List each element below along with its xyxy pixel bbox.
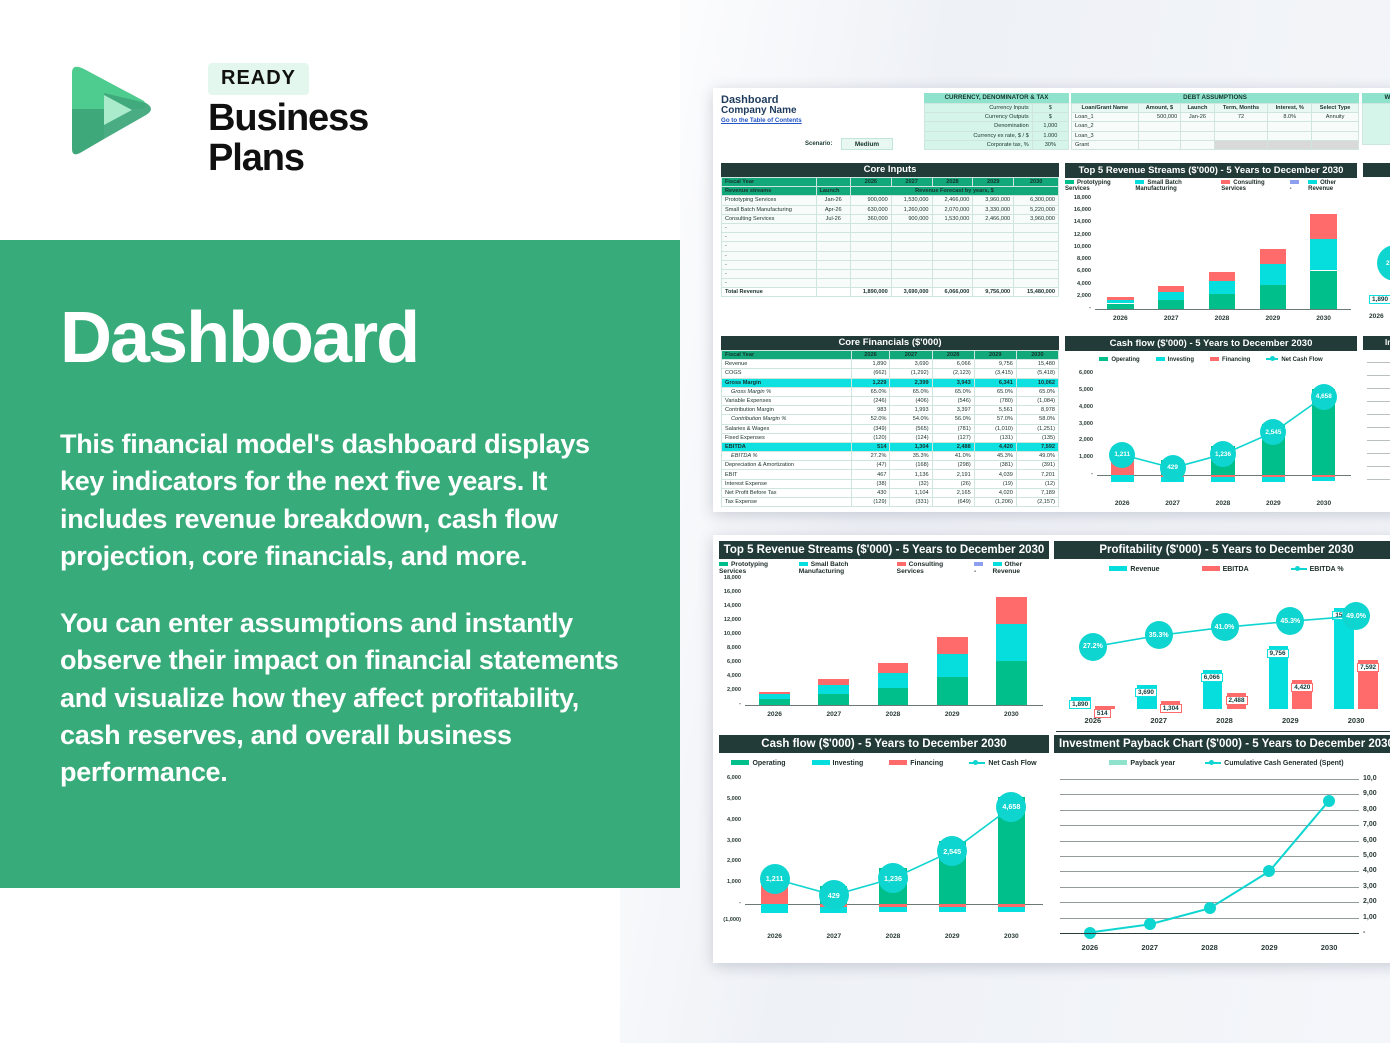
table-cell: (38): [851, 479, 890, 488]
table-cell: 58.0%: [1016, 415, 1058, 424]
table-cell: [816, 223, 850, 232]
legend-item: Operating: [731, 760, 785, 767]
donut-label-bubble: 27.2%: [1377, 245, 1390, 281]
data-bubble-pct: 49.0%: [1342, 602, 1370, 630]
table-row: Currency Outputs$: [925, 113, 1069, 122]
bar-segment: [1209, 281, 1235, 294]
table-cell: [850, 260, 891, 269]
table-cell: (47): [851, 461, 890, 470]
gridline: [1367, 453, 1390, 454]
currency-block-header: CURRENCY, DENOMINATOR & TAX: [924, 93, 1069, 103]
y-tick-label: 4,000: [719, 673, 741, 679]
table-cell: 1,890,000: [850, 288, 891, 297]
data-label: 1,890: [1369, 295, 1390, 304]
sheet-subtitle: Company Name: [721, 105, 802, 116]
table-cell: 1,530,000: [932, 214, 973, 223]
data-point-marker: [1323, 795, 1335, 807]
dashboard-screenshot-top: Dashboard Company Name Go to the Table o…: [713, 88, 1390, 512]
bar-segment: [878, 663, 909, 674]
table-cell: Tax Expense: [722, 498, 852, 507]
table-cell: [1214, 122, 1268, 131]
chart-legend: Payback year Cumulative Cash Generated (…: [1054, 757, 1390, 769]
table-cell: 2028: [932, 178, 973, 187]
data-bubble-pct: 41.0%: [1211, 613, 1239, 641]
chart-legend: Operating Investing Financing Net Cash F…: [719, 757, 1049, 769]
brand-logo: READY Business Plans: [58, 55, 458, 160]
table-cell: 2,466,000: [932, 196, 973, 205]
table-cell: 1,993: [890, 406, 932, 415]
table-cell: Interest Expense: [722, 479, 852, 488]
table-row: Currency ex rate, $ / $1.000: [925, 131, 1069, 140]
chart-investment-payback: Investment Payback Chart ($'000) - 5 Yea…: [1054, 735, 1390, 959]
table-row: Grant: [1072, 140, 1359, 149]
legend-item: Small Batch Manufacturing: [1135, 180, 1215, 192]
table-cell: 3,330,000: [973, 205, 1014, 214]
table-cell: 2029: [973, 178, 1014, 187]
table-cell: [891, 223, 932, 232]
x-tick-label: 2029: [930, 711, 974, 718]
table-cell: Jul-26: [816, 214, 850, 223]
table-cell: [1014, 279, 1059, 288]
table-cell: Contribution Margin: [722, 406, 852, 415]
table-cell: (129): [851, 498, 890, 507]
table-cell: Gross Margin: [722, 378, 852, 387]
bar-segment: [818, 694, 849, 705]
table-cell: 1,304: [890, 442, 932, 451]
data-point-marker: [1144, 918, 1156, 930]
table-cell: 2026: [850, 178, 891, 187]
x-tick-label: 2026: [753, 711, 797, 718]
table-cell: 27.2%: [851, 452, 890, 461]
table-row: -: [722, 279, 1059, 288]
table-cell: 3,960,000: [973, 196, 1014, 205]
table-header-row: Loan/Grant NameAmount, $LaunchTerm, Mont…: [1072, 104, 1359, 113]
table-cell: EBIT: [722, 470, 852, 479]
x-axis: [745, 705, 1043, 706]
table-cell: (349): [851, 424, 890, 433]
table-cell: [1214, 131, 1268, 140]
table-row: Prototyping ServicesJan-26900,0001,530,0…: [722, 196, 1059, 205]
table-header-row: Revenue streamsLaunchRevenue Forecast by…: [722, 187, 1059, 196]
table-cell: -: [722, 269, 817, 278]
table-cell: [973, 279, 1014, 288]
table-cell: (127): [932, 433, 974, 442]
table-header-row: Fiscal Year20262027202820292030: [722, 178, 1059, 187]
table-cell: Fiscal Year: [722, 178, 817, 187]
y-tick-label: 6,000: [1065, 268, 1091, 274]
chart-title: Cash flow ($'000) - 5 Years to December …: [719, 735, 1049, 753]
working-capital-body: ADe: [1362, 103, 1390, 145]
x-axis: [1056, 731, 1390, 732]
debt-block: DEBT ASSUMPTIONS Loan/Grant NameAmount, …: [1071, 93, 1359, 150]
table-cell: 2,488: [932, 442, 974, 451]
y-tick-label: 10,000: [719, 631, 741, 637]
table-cell: (12): [1016, 479, 1058, 488]
table-cell: [1138, 131, 1181, 140]
sheet-title-block: Dashboard Company Name Go to the Table o…: [721, 94, 802, 124]
table-cell: [850, 242, 891, 251]
table-row: Net Profit Before Tax4301,1042,1654,0207…: [722, 488, 1059, 497]
table-row: Contribution Margin9831,9933,3975,5618,9…: [722, 406, 1059, 415]
table-cell: Jan-26: [816, 196, 850, 205]
table-cell: (780): [974, 396, 1016, 405]
chart-partial-right-top: 27.2% 1,890 2026: [1363, 163, 1390, 331]
x-tick-label: 2030: [989, 711, 1033, 718]
chart-legend: Prototyping Services Small Batch Manufac…: [1065, 180, 1357, 192]
table-cell: 52.0%: [851, 415, 890, 424]
y-tick-label: 8,000: [719, 645, 741, 651]
bar-segment: [1260, 264, 1286, 284]
bar-segment: [1260, 249, 1286, 264]
table-cell: 2,165: [932, 488, 974, 497]
x-tick-label: 2030: [1302, 315, 1346, 322]
table-cell: Jan-26: [1181, 113, 1214, 122]
legend-item: Revenue: [1109, 566, 1159, 573]
table-cell: 49.0%: [1016, 452, 1058, 461]
table-cell: Gross Margin %: [722, 387, 852, 396]
bar-segment: [1107, 297, 1133, 299]
table-cell: Salaries & Wages: [722, 424, 852, 433]
table-row: EBIT4671,1362,1914,0397,201: [722, 470, 1059, 479]
table-cell: -: [722, 242, 817, 251]
bar-segment: [1158, 286, 1184, 292]
table-cell: (662): [851, 369, 890, 378]
table-cell: Annuity: [1312, 113, 1359, 122]
table-cell: [932, 242, 973, 251]
data-point-marker: [1204, 902, 1216, 914]
table-cell: Currency Outputs: [925, 113, 1033, 122]
table-row: Currency Inputs$: [925, 104, 1069, 113]
bar-segment: [1107, 304, 1133, 310]
x-tick-label: 2028: [871, 711, 915, 718]
table-row: Depreciation & Amortization(47)(168)(298…: [722, 461, 1059, 470]
bar-segment: [878, 688, 909, 705]
bar-segment: [937, 637, 968, 654]
x-tick-label: 2027: [812, 711, 856, 718]
bar-segment: [1107, 300, 1133, 304]
gridline: [1367, 427, 1390, 428]
table-cell: 3,960,000: [1014, 214, 1059, 223]
table-cell: 5,561: [974, 406, 1016, 415]
table-cell: (120): [851, 433, 890, 442]
legend-item: Financing: [1210, 357, 1250, 363]
data-bubble-pct: 35.3%: [1145, 621, 1173, 649]
debt-block-header: DEBT ASSUMPTIONS: [1071, 93, 1359, 103]
x-tick-label: 2026: [1098, 315, 1142, 322]
table-cell: Fixed Expenses: [722, 433, 852, 442]
table-cell: 2,399: [890, 378, 932, 387]
table-cell: 6,066,000: [932, 288, 973, 297]
table-cell: -: [722, 233, 817, 242]
table-cell: [816, 279, 850, 288]
table-cell: [891, 260, 932, 269]
table-cell: (32): [890, 479, 932, 488]
table-cell: 4,039: [974, 470, 1016, 479]
table-cell: (1,206): [974, 498, 1016, 507]
table-cell: EBITDA: [722, 442, 852, 451]
table-cell: Revenue: [722, 360, 852, 369]
table-row: Consulting ServicesJul-26360,000900,0001…: [722, 214, 1059, 223]
bar-segment: [1209, 294, 1235, 309]
table-cell: COGS: [722, 369, 852, 378]
table-cell: 5,220,000: [1014, 205, 1059, 214]
table-cell: (298): [932, 461, 974, 470]
table-cell: [932, 251, 973, 260]
table-cell: 45.3%: [974, 452, 1016, 461]
x-tick-label: 2026: [1369, 313, 1384, 320]
gridline: [1367, 479, 1390, 480]
y-tick-label: 12,000: [1065, 232, 1091, 238]
table-cell: [932, 233, 973, 242]
table-cell: [850, 251, 891, 260]
bar-segment: [937, 654, 968, 677]
cumulative-cash-line: [1054, 771, 1390, 959]
table-cell: Revenue streams: [722, 187, 817, 196]
table-cell: 360,000: [850, 214, 891, 223]
table-cell: 41.0%: [932, 452, 974, 461]
table-cell: Fiscal Year: [722, 351, 852, 360]
bar-segment: [1158, 292, 1184, 300]
table-cell: (168): [890, 461, 932, 470]
table-cell: -: [722, 260, 817, 269]
table-cell: Currency ex rate, $ / $: [925, 131, 1033, 140]
table-cell: EBITDA %: [722, 452, 852, 461]
table-cell: Small Batch Manufacturing: [722, 205, 817, 214]
bar-segment: [759, 694, 790, 698]
table-cell: (19): [974, 479, 1016, 488]
table-cell: [1268, 131, 1312, 140]
table-cell: [973, 269, 1014, 278]
legend-item: Investing: [812, 760, 864, 767]
table-cell: 7,201: [1016, 470, 1058, 479]
table-cell: [1268, 122, 1312, 131]
table-cell: 2,070,000: [932, 205, 973, 214]
table-cell: 630,000: [850, 205, 891, 214]
bar-segment: [1310, 239, 1336, 271]
table-row: Small Batch ManufacturingApr-26630,0001,…: [722, 205, 1059, 214]
table-cell: 4,420: [974, 442, 1016, 451]
table-cell: [891, 251, 932, 260]
table-cell: Loan/Grant Name: [1072, 104, 1139, 113]
chart-revenue-streams-top: Top 5 Revenue Streams ($'000) - 5 Years …: [1065, 163, 1357, 331]
table-cell: 2028: [932, 351, 974, 360]
table-cell: 8,978: [1016, 406, 1058, 415]
table-cell: 30%: [1032, 140, 1068, 149]
table-cell: Denomination: [925, 122, 1033, 131]
table-cell: Select Type: [1312, 104, 1359, 113]
core-financials-header: Core Financials ($'000): [721, 336, 1059, 350]
table-cell: 7,189: [1016, 488, 1058, 497]
table-cell: 2026: [851, 351, 890, 360]
working-capital-header: WOR: [1362, 93, 1390, 103]
table-cell: [816, 242, 850, 251]
table-cell: Corporate tax, %: [925, 140, 1033, 149]
table-cell: [932, 269, 973, 278]
table-cell: [1014, 269, 1059, 278]
core-inputs-table: Core Inputs Fiscal Year20262027202820292…: [721, 163, 1059, 297]
table-cell: 3,397: [932, 406, 974, 415]
table-cell: 57.0%: [974, 415, 1016, 424]
table-cell: [850, 233, 891, 242]
chart-title: Top 5 Revenue Streams ($'000) - 5 Years …: [719, 541, 1049, 559]
table-cell: $: [1032, 113, 1068, 122]
y-tick-label: 16,000: [1065, 207, 1091, 213]
gridline: [1367, 466, 1390, 467]
table-cell: [891, 233, 932, 242]
table-cell: (131): [974, 433, 1016, 442]
table-row: -: [722, 251, 1059, 260]
table-cell: [850, 269, 891, 278]
table-cell: Launch: [1181, 104, 1214, 113]
chart-title: Top 5 Revenue Streams ($'000) - 5 Years …: [1065, 163, 1357, 178]
gridline: [1367, 414, 1390, 415]
table-cell: (391): [1016, 461, 1058, 470]
table-cell: [1181, 140, 1214, 149]
legend-item: EBITDA: [1202, 566, 1249, 573]
table-row: Loan_1500,000Jan-26728.0%Annuity: [1072, 113, 1359, 122]
table-cell: [1181, 122, 1214, 131]
table-cell: [1268, 140, 1312, 149]
chart-legend: Operating Investing Financing Net Cash F…: [1065, 354, 1357, 366]
table-cell: 8.0%: [1268, 113, 1312, 122]
table-cell: Contribution Margin %: [722, 415, 852, 424]
table-cell: 9,756,000: [973, 288, 1014, 297]
table-cell: 430: [851, 488, 890, 497]
table-row: EBITDA %27.2%35.3%41.0%45.3%49.0%: [722, 452, 1059, 461]
table-cell: [973, 242, 1014, 251]
table-cell: (246): [851, 396, 890, 405]
scenario-dropdown[interactable]: Medium: [841, 138, 893, 150]
x-tick-label: 2029: [1251, 315, 1295, 322]
chart-title-partial: Inve: [1363, 336, 1390, 350]
table-cell: Loan_2: [1072, 122, 1139, 131]
table-cell: [816, 251, 850, 260]
table-cell: 983: [851, 406, 890, 415]
x-tick-label: 2028: [1200, 315, 1244, 322]
table-cell: [850, 279, 891, 288]
table-cell: 6,300,000: [1014, 196, 1059, 205]
table-cell: 72: [1214, 113, 1268, 122]
table-cell: (26): [932, 479, 974, 488]
table-cell: 65.0%: [851, 387, 890, 396]
page-title: Dashboard: [60, 302, 620, 374]
table-cell: Loan_1: [1072, 113, 1139, 122]
table-cell: [1014, 251, 1059, 260]
hero-paragraph-1: This financial model's dashboard display…: [60, 426, 620, 575]
table-row: Loan_2: [1072, 122, 1359, 131]
chart-profitability: Profitability ($'000) - 5 Years to Decem…: [1054, 541, 1390, 731]
table-cell: Apr-26: [816, 205, 850, 214]
table-row: Loan_3: [1072, 131, 1359, 140]
y-tick-label: 4,000: [1065, 281, 1091, 287]
table-row: Tax Expense(129)(331)(649)(1,206)(2,157): [722, 498, 1059, 507]
table-row: -: [722, 233, 1059, 242]
table-cell: [1014, 260, 1059, 269]
play-triangle-logo-icon: [58, 59, 158, 159]
y-tick-label: 16,000: [719, 589, 741, 595]
table-cell: [1181, 131, 1214, 140]
bar-segment: [937, 677, 968, 705]
table-cell: 467: [851, 470, 890, 479]
table-cell: [816, 260, 850, 269]
table-row: Gross Margin1,2292,3993,9436,34110,062: [722, 378, 1059, 387]
legend-item: Net Cash Flow: [1266, 357, 1322, 363]
data-bubble: 1,211: [760, 864, 790, 894]
bar-segment: [1310, 214, 1336, 238]
table-cell: [1312, 131, 1359, 140]
currency-block: CURRENCY, DENOMINATOR & TAX Currency Inp…: [924, 93, 1069, 150]
table-cell: [973, 223, 1014, 232]
table-cell: 9,756: [974, 360, 1016, 369]
table-cell: (1,084): [1016, 396, 1058, 405]
gridline: [1367, 440, 1390, 441]
toc-link[interactable]: Go to the Table of Contents: [721, 117, 802, 124]
table-cell: 2,466,000: [973, 214, 1014, 223]
table-cell: 6,341: [974, 378, 1016, 387]
data-bubble: 429: [1160, 455, 1186, 481]
table-cell: [891, 242, 932, 251]
table-cell: Currency Inputs: [925, 104, 1033, 113]
table-cell: (406): [890, 396, 932, 405]
data-bubble: 1,211: [1109, 442, 1135, 468]
table-cell: (781): [932, 424, 974, 433]
table-row: COGS(662)(1,292)(2,123)(3,415)(5,418): [722, 369, 1059, 378]
table-cell: [1312, 122, 1359, 131]
table-cell: [1014, 223, 1059, 232]
table-row: Variable Expenses(246)(406)(546)(780)(1,…: [722, 396, 1059, 405]
table-cell: 2030: [1016, 351, 1058, 360]
table-cell: Revenue Forecast by years, $: [850, 187, 1058, 196]
legend-item: Consulting Services: [1221, 180, 1283, 192]
table-cell: [1138, 140, 1181, 149]
legend-item: Prototyping Services: [1065, 180, 1129, 192]
chart-title: Investment Payback Chart ($'000) - 5 Yea…: [1054, 735, 1390, 753]
legend-item: Financing: [889, 760, 943, 767]
table-row: EBITDA5141,3042,4884,4207,592: [722, 442, 1059, 451]
table-cell: Interest, %: [1268, 104, 1312, 113]
table-cell: (565): [890, 424, 932, 433]
gridline: [1367, 375, 1390, 376]
table-cell: (1,010): [974, 424, 1016, 433]
table-cell: 1,104: [890, 488, 932, 497]
table-cell: Variable Expenses: [722, 396, 852, 405]
table-cell: 15,480,000: [1014, 288, 1059, 297]
table-cell: (331): [890, 498, 932, 507]
bar-segment: [1260, 285, 1286, 309]
core-financials-table: Core Financials ($'000) Fiscal Year20262…: [721, 336, 1059, 507]
table-cell: 1,000: [1032, 122, 1068, 131]
y-tick-label: 2,000: [719, 687, 741, 693]
working-capital-block: WOR ADe: [1362, 93, 1390, 145]
table-cell: 900,000: [891, 214, 932, 223]
y-tick-label: -: [719, 701, 741, 707]
table-cell: 54.0%: [890, 415, 932, 424]
table-row: Interest Expense(38)(32)(26)(19)(12): [722, 479, 1059, 488]
table-cell: (5,418): [1016, 369, 1058, 378]
chart-revenue-streams: Top 5 Revenue Streams ($'000) - 5 Years …: [719, 541, 1049, 731]
table-row: Gross Margin %65.0%65.0%65.0%65.0%65.0%: [722, 387, 1059, 396]
gridline: [1367, 362, 1390, 363]
x-axis: [1095, 309, 1351, 310]
table-cell: 65.0%: [890, 387, 932, 396]
legend-item: EBITDA %: [1291, 566, 1344, 573]
table-cell: 6,066: [932, 360, 974, 369]
table-cell: $: [1032, 104, 1068, 113]
legend-item: Other Revenue: [1308, 180, 1357, 192]
table-row: -: [722, 269, 1059, 278]
table-cell: [891, 279, 932, 288]
table-row: -: [722, 242, 1059, 251]
